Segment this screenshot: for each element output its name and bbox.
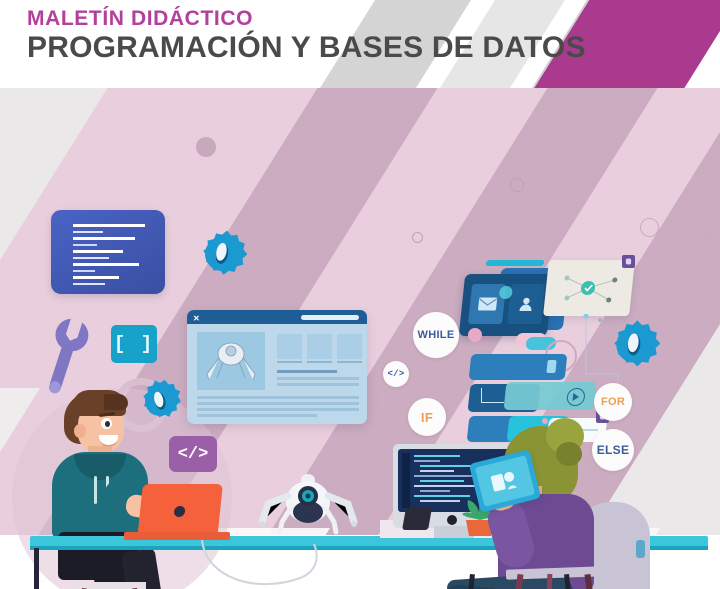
cable [196,538,326,589]
code-window-icon [51,210,165,294]
decor-ring-1 [510,178,524,192]
header-text-block: MALETÍN DIDÁCTICO PROGRAMACIÓN Y BASES D… [27,8,586,64]
browser-thumbnail[interactable] [337,334,362,359]
code-tag-icon: </> [169,436,217,472]
monitor-button [447,515,457,525]
database-badge-icon[interactable] [622,255,635,268]
decor-ring-5 [380,393,394,407]
ui-accent-bar [485,260,545,266]
ui-diagram-card[interactable] [543,260,635,316]
poster-root: MALETÍN DIDÁCTICO PROGRAMACIÓN Y BASES D… [0,0,720,589]
decor-ring-3 [640,218,659,237]
browser-hero-image [197,332,265,390]
browser-text-line [277,370,337,373]
decor-ring-2 [412,232,423,243]
ui-row-bar[interactable] [469,354,568,380]
poster-header: MALETÍN DIDÁCTICO PROGRAMACIÓN Y BASES D… [0,0,720,88]
browser-addressbar[interactable] [301,315,359,320]
desk-leg [34,548,39,589]
browser-window[interactable]: ✕ [187,310,367,424]
phone-icon [402,508,432,530]
decor-dot-1 [196,137,216,157]
chair-detail [636,540,645,558]
keyword-if: IF [408,398,446,436]
keyword-code-tag: </> [383,361,409,387]
person-icon[interactable] [507,284,545,324]
decor-ring-4 [693,231,709,247]
ui-card-front[interactable] [459,274,554,336]
gear-icon [197,228,247,280]
keyword-else: ELSE [592,429,634,471]
robot-icon [258,466,358,542]
keyword-for: FOR [594,383,632,421]
node-diagram-icon [543,260,635,316]
page-title: PROGRAMACIÓN Y BASES DE DATOS [27,32,586,64]
close-icon[interactable]: ✕ [193,314,200,323]
gear-icon [138,378,182,424]
man-ear [74,424,86,438]
illustration-canvas: [ ] </> ✕ [0,88,720,589]
brackets-icon: [ ] [111,325,157,363]
header-kicker: MALETÍN DIDÁCTICO [27,8,586,30]
browser-thumbnail[interactable] [277,334,302,359]
keyword-while: WHILE [413,312,459,358]
browser-thumbnail[interactable] [307,334,332,359]
man-hoodie-string [94,476,97,504]
